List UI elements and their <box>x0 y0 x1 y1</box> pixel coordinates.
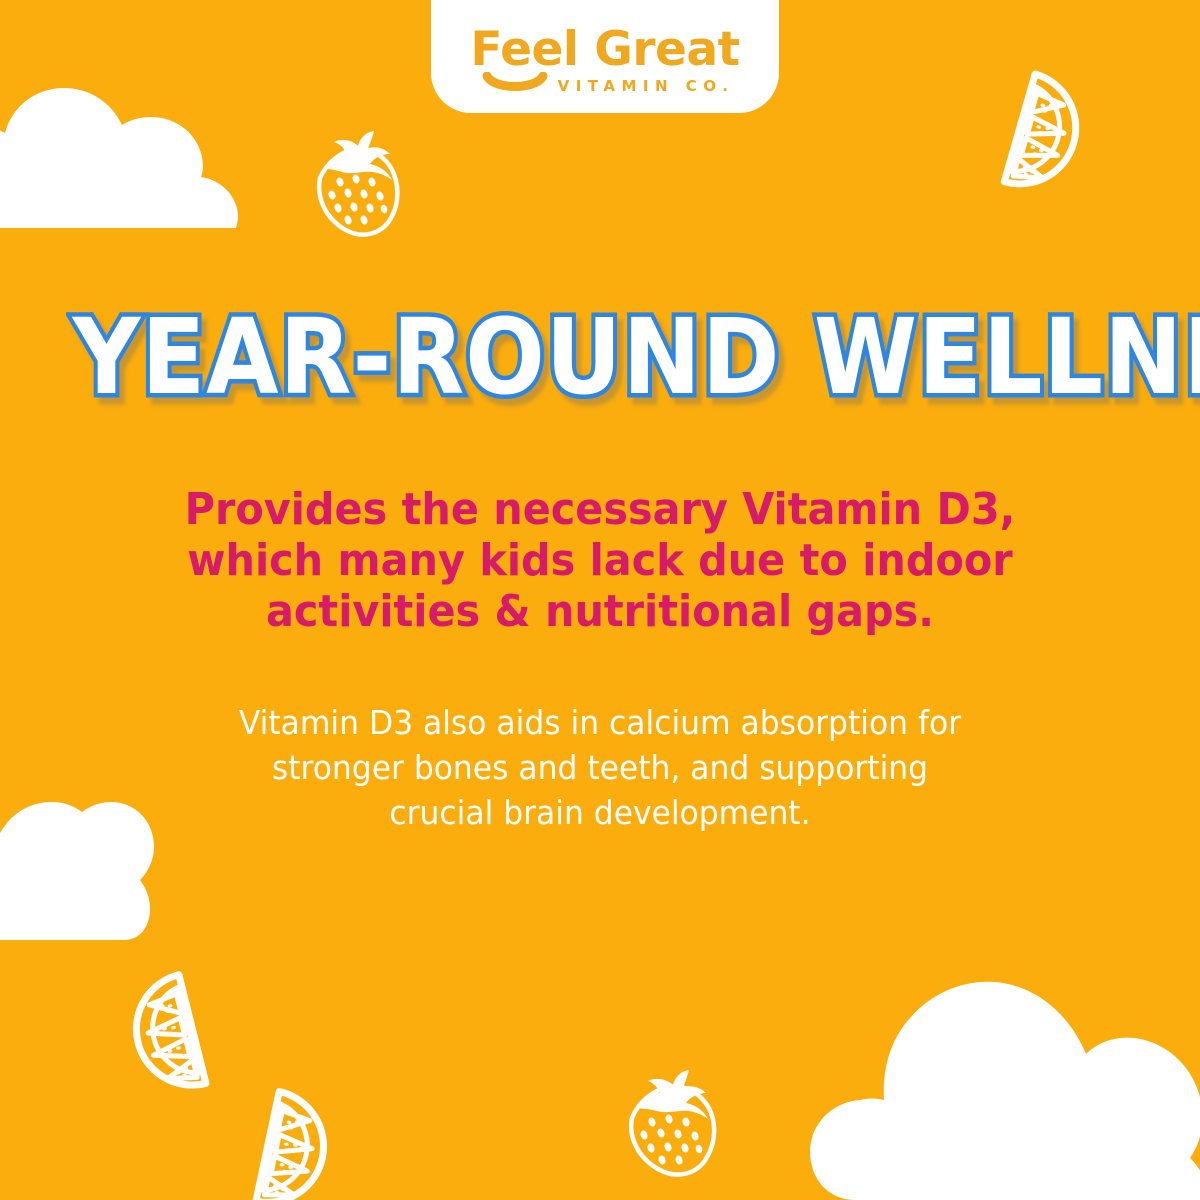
subheadline-line: Provides the necessary Vitamin D3, <box>149 484 1051 535</box>
body-paragraph: Vitamin D3 also aids in calcium absorpti… <box>144 700 1056 835</box>
cloud-bottom-left <box>0 798 154 948</box>
logo-tagline: VITAMIN CO. <box>558 79 735 94</box>
orange-slice-bottom-center <box>221 1065 387 1200</box>
cloud-bottom-right <box>798 912 1200 1200</box>
logo-bottom-row: VITAMIN CO. <box>431 74 779 99</box>
body-line: Vitamin D3 also aids in calcium absorpti… <box>144 700 1056 745</box>
orange-slice-top-right <box>969 45 1142 218</box>
headline-container: YEAR-ROUND WELLNESS <box>0 305 1200 409</box>
logo-wordmark: Feel Great <box>470 26 739 73</box>
strawberry-top-left <box>296 126 414 244</box>
page-title: YEAR-ROUND WELLNESS <box>73 305 1200 409</box>
body-line: stronger bones and teeth, and supporting <box>144 745 1056 790</box>
strawberry-icon <box>612 1058 730 1188</box>
brand-logo-card: Feel Great VITAMIN CO. <box>431 0 779 113</box>
orange-slice-bottom-left <box>71 947 241 1117</box>
cloud-icon <box>0 798 154 948</box>
orange-slice-icon <box>71 947 241 1117</box>
cloud-top-left <box>0 78 270 238</box>
orange-slice-icon <box>221 1065 387 1200</box>
subheadline: Provides the necessary Vitamin D3, which… <box>149 484 1051 637</box>
orange-slice-icon <box>969 45 1142 218</box>
promo-poster: Feel Great VITAMIN CO. YEAR-ROUND WELLNE… <box>0 0 1200 1200</box>
cloud-icon <box>0 78 270 238</box>
strawberry-bottom-center <box>612 1058 730 1188</box>
subheadline-line: activities & nutritional gaps. <box>149 586 1051 637</box>
subheadline-line: which many kids lack due to indoor <box>149 535 1051 586</box>
cloud-icon <box>798 912 1200 1200</box>
smile-swoosh-icon <box>482 72 548 99</box>
strawberry-icon <box>296 126 414 244</box>
body-line: crucial brain development. <box>144 790 1056 835</box>
